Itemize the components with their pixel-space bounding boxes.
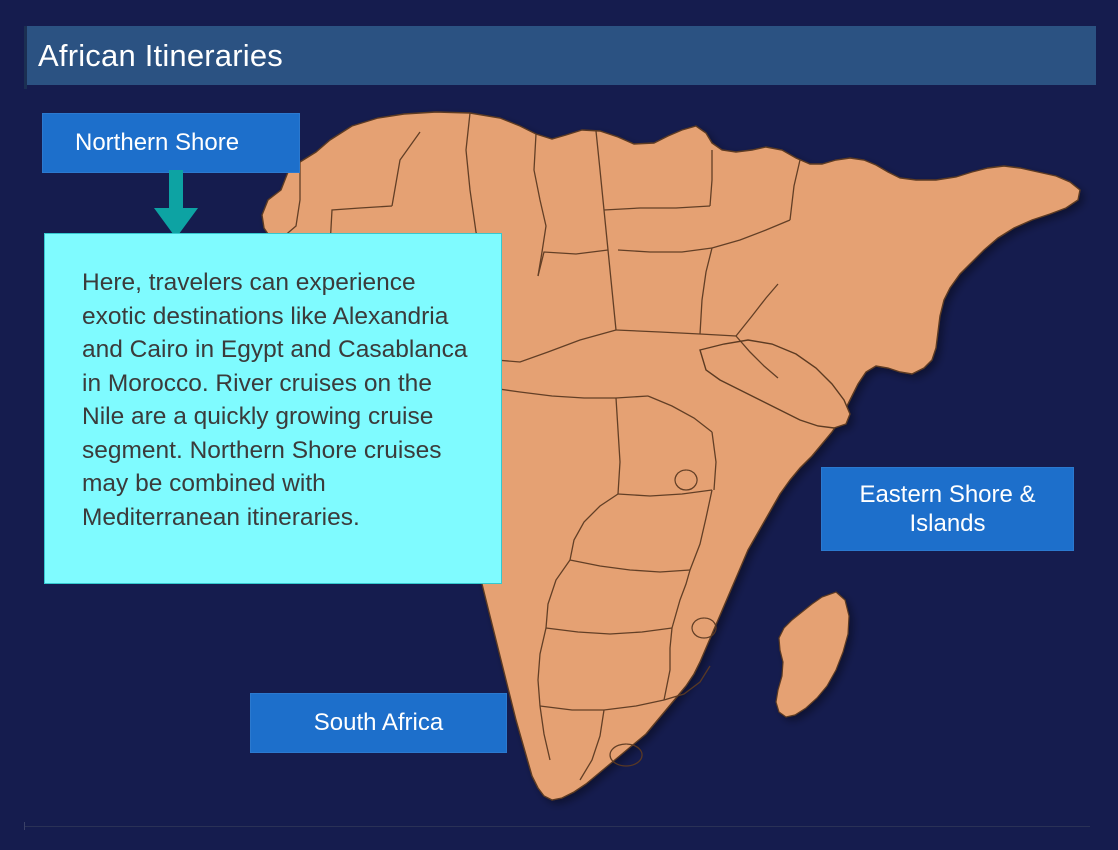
horn-of-africa-shape [700,340,850,428]
title-bar: African Itineraries [24,26,1096,85]
page-title: African Itineraries [38,38,283,74]
madagascar-shape [776,592,849,717]
callout-northern-shore[interactable]: Northern Shore [42,113,300,173]
info-panel-body: Here, travelers can experience exotic de… [82,266,472,534]
callout-south-africa[interactable]: South Africa [250,693,507,753]
callout-eastern-shore-islands-label: Eastern Shore & Islands [832,480,1063,539]
callout-south-africa-label: South Africa [314,708,443,737]
footer-divider [24,826,1090,827]
callout-northern-shore-label: Northern Shore [75,128,239,157]
callout-eastern-shore-islands[interactable]: Eastern Shore & Islands [821,467,1074,551]
info-panel: Here, travelers can experience exotic de… [44,233,502,584]
slide-canvas: African Itineraries Northern Shore Here,… [0,0,1118,850]
down-arrow-icon [148,170,204,240]
